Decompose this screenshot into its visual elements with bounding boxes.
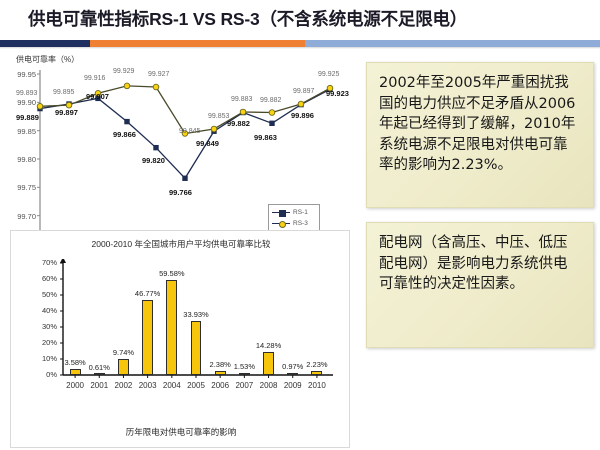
line-chart-data-label: 99.897 — [55, 108, 78, 117]
header-rule-shadow — [0, 47, 600, 49]
line-chart-data-label: 99.863 — [254, 133, 277, 142]
bar-chart-bar — [94, 373, 105, 375]
bar-chart: 2000-2010 年全国城市用户平均供电可靠率比较 70%60%50%40%3… — [10, 230, 350, 448]
legend-marker-rs1 — [272, 212, 290, 213]
bar-chart-bar — [70, 369, 81, 375]
line-chart-data-label: 99.882 — [227, 119, 250, 128]
line-chart-data-label: 99.893 — [16, 90, 37, 97]
bar-chart-bar — [142, 300, 153, 375]
line-chart-data-label: 99.897 — [293, 88, 314, 95]
line-chart-data-label: 99.883 — [231, 96, 252, 103]
bar-chart-bar — [215, 371, 226, 375]
bar-chart-y-tick: 10% — [27, 354, 57, 363]
bar-chart-y-tick: 0% — [27, 370, 57, 379]
bar-chart-x-tick: 2010 — [300, 381, 334, 390]
bar-chart-y-tick: 20% — [27, 338, 57, 347]
legend-label-rs3: RS-3 — [293, 220, 308, 227]
note-text-distribution-network: 配电网（含高压、中压、低压配电网）是影响电力系统供电可靠性的决定性因素。 — [379, 233, 581, 295]
rule-segment-blue — [305, 40, 600, 47]
bar-chart-caption: 历年限电对供电可靠率的影响 — [11, 426, 351, 438]
bar-chart-bar — [166, 280, 177, 375]
line-chart-y-tick: 99.80 — [2, 155, 36, 164]
line-chart-data-label: 99.882 — [260, 97, 281, 104]
line-chart-data-label: 99.916 — [84, 75, 105, 82]
slide-header: 供电可靠性指标RS-1 VS RS-3（不含系统电源不足限电） — [0, 0, 600, 50]
bar-chart-bar — [118, 359, 129, 375]
line-chart-data-label: 99.849 — [196, 139, 219, 148]
line-chart-y-tick: 99.75 — [2, 183, 36, 192]
legend-item-rs3: RS-3 — [272, 218, 316, 229]
bar-chart-bar — [263, 352, 274, 375]
line-chart-data-label: 99.853 — [208, 113, 229, 120]
line-chart-data-label: 99.925 — [318, 71, 339, 78]
note-panel-supply-shortage: 2002年至2005年严重困扰我国的电力供应不足矛盾从2006年起已经得到了缓解… — [366, 62, 594, 208]
line-chart-y-tick: 99.85 — [2, 127, 36, 136]
note-panel-distribution-network: 配电网（含高压、中压、低压配电网）是影响电力系统供电可靠性的决定性因素。 — [366, 222, 594, 348]
line-chart-data-label: 99.929 — [113, 68, 134, 75]
line-chart: 供电可靠率（%） 99.9599.9099.8599.8099.7599.709… — [0, 52, 358, 224]
bar-chart-value-label: 59.58% — [155, 269, 189, 278]
bar-chart-bar — [239, 373, 250, 375]
line-chart-data-label: 99.820 — [142, 156, 165, 165]
bar-chart-value-label: 9.74% — [106, 348, 140, 357]
header-rule — [0, 40, 600, 47]
bar-chart-value-label: 1.53% — [227, 362, 261, 371]
rule-segment-navy — [0, 40, 90, 47]
bar-chart-value-label: 2.23% — [300, 360, 334, 369]
line-chart-data-label: 99.766 — [169, 188, 192, 197]
line-chart-data-label: 99.866 — [113, 130, 136, 139]
bar-chart-bar — [311, 371, 322, 375]
line-chart-data-label: 99.845 — [179, 128, 200, 135]
legend-marker-rs3 — [272, 223, 290, 224]
line-chart-data-label: 99.895 — [53, 89, 74, 96]
line-chart-y-tick: 99.70 — [2, 212, 36, 221]
line-chart-data-label: 99.927 — [148, 71, 169, 78]
note-text-supply-shortage: 2002年至2005年严重困扰我国的电力供应不足矛盾从2006年起已经得到了缓解… — [379, 73, 581, 176]
line-chart-y-tick: 99.90 — [2, 98, 36, 107]
line-chart-data-label: 99.896 — [291, 111, 314, 120]
line-chart-data-label: 99.923 — [326, 89, 349, 98]
bar-chart-y-tick: 50% — [27, 290, 57, 299]
bar-chart-plot: 70%60%50%40%30%20%10%0%3.58%20000.61%200… — [57, 259, 335, 389]
bar-chart-y-tick: 60% — [27, 274, 57, 283]
bar-chart-value-label: 33.93% — [179, 310, 213, 319]
line-chart-data-label: 99.889 — [16, 113, 39, 122]
charts-column: 供电可靠率（%） 99.9599.9099.8599.8099.7599.709… — [0, 52, 358, 450]
bar-chart-bar — [191, 321, 202, 375]
bar-chart-bar — [287, 373, 298, 375]
bar-chart-value-label: 0.61% — [82, 363, 116, 372]
bar-chart-value-label: 14.28% — [252, 341, 286, 350]
bar-chart-y-tick: 70% — [27, 258, 57, 267]
bar-chart-y-tick: 40% — [27, 306, 57, 315]
bar-chart-value-label: 46.77% — [131, 289, 165, 298]
line-chart-y-tick: 99.95 — [2, 70, 36, 79]
line-chart-data-label: 99.907 — [86, 92, 109, 101]
legend-item-rs1: RS-1 — [272, 207, 316, 218]
line-chart-legend: RS-1 RS-3 — [268, 204, 320, 232]
bar-chart-y-tick: 30% — [27, 322, 57, 331]
page-title: 供电可靠性指标RS-1 VS RS-3（不含系统电源不足限电） — [28, 6, 588, 31]
rule-segment-orange — [90, 40, 305, 47]
legend-label-rs1: RS-1 — [293, 209, 308, 216]
bar-chart-title: 2000-2010 年全国城市用户平均供电可靠率比较 — [11, 238, 351, 250]
